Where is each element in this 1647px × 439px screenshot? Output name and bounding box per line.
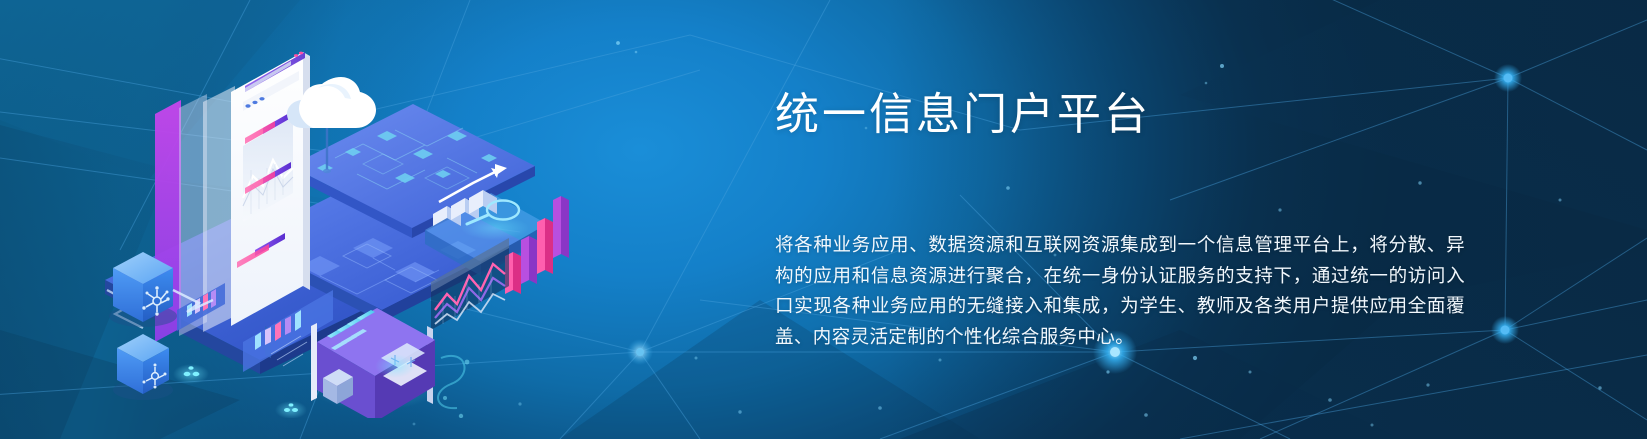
glow-emitter-secondary <box>275 401 307 418</box>
glow-emitter <box>173 364 209 384</box>
ribbon-accent <box>438 356 469 418</box>
isometric-data-platform-illustration <box>95 18 615 418</box>
banner-description: 将各种业务应用、数据资源和互联网资源集成到一个信息管理平台上，将分散、异构的应用… <box>775 144 1465 352</box>
banner-copy: 统一信息门户平台 将各种业务应用、数据资源和互联网资源集成到一个信息管理平台上，… <box>775 86 1465 352</box>
hero-banner: 统一信息门户平台 将各种业务应用、数据资源和互联网资源集成到一个信息管理平台上，… <box>0 0 1647 439</box>
page-title: 统一信息门户平台 <box>775 86 1465 144</box>
network-cube-lower <box>113 334 173 400</box>
